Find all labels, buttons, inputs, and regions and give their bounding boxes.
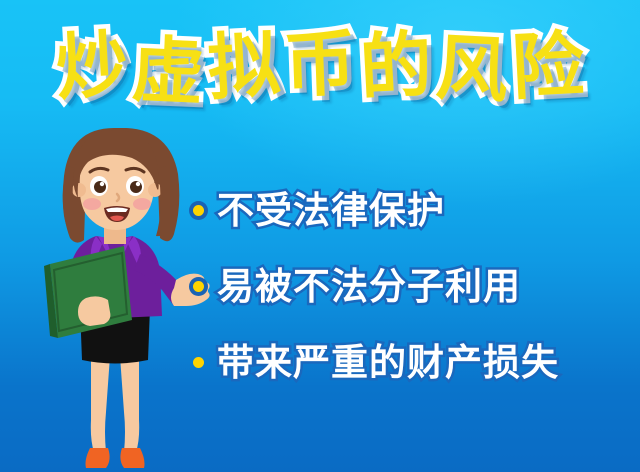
page-title: 炒 虚 拟 币 的 风 险 (0, 18, 640, 118)
cartoon-woman-illustration (28, 120, 218, 472)
title-char-7: 险 (510, 28, 586, 104)
risk-bullet-list: 不受法律保护 易被不法分子利用 带来严重的财产损失 (193, 172, 623, 400)
list-item-label: 带来严重的财产损失 (217, 344, 559, 381)
title-char-2: 虚 (130, 33, 205, 108)
bullet-dot-icon (193, 357, 204, 368)
title-char-5: 的 (358, 28, 434, 104)
list-item: 带来严重的财产损失 (193, 324, 623, 400)
legs (91, 356, 139, 452)
title-char-6: 风 (434, 31, 510, 107)
list-item: 不受法律保护 (193, 172, 623, 248)
list-item: 易被不法分子利用 (193, 248, 623, 324)
hand-on-book (78, 296, 110, 326)
list-item-label: 不受法律保护 (217, 192, 445, 229)
bullet-dot-icon (193, 281, 204, 292)
title-char-4: 币 (283, 27, 357, 101)
bullet-dot-icon (193, 205, 204, 216)
title-char-3: 拟 (206, 28, 282, 104)
shoes (86, 448, 145, 468)
poster-canvas: 炒 虚 拟 币 的 风 险 (0, 0, 640, 472)
title-char-1: 炒 (54, 28, 130, 104)
list-item-label: 易被不法分子利用 (217, 268, 521, 305)
